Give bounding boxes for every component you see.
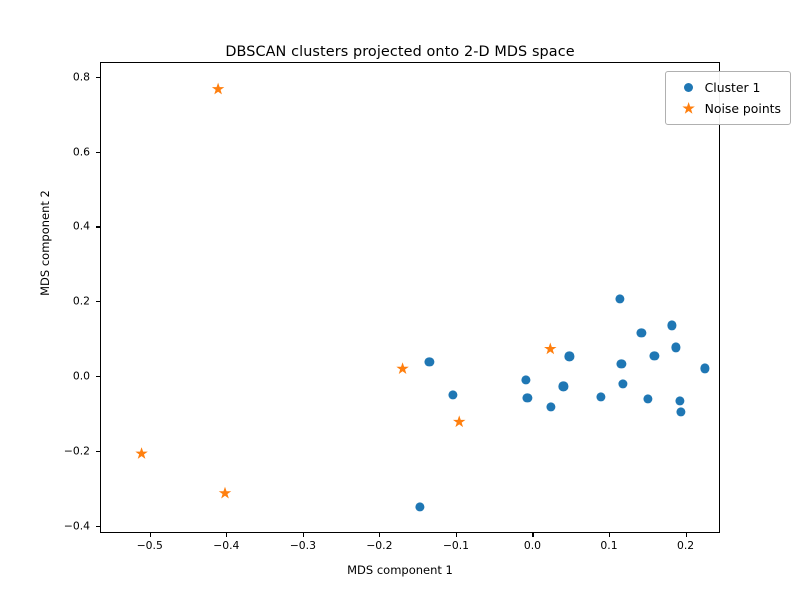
noise-point-marker [135,447,148,460]
cluster-point-marker [650,351,659,360]
cluster-point-marker [615,294,624,303]
x-tick-label: 0.1 [600,539,617,552]
chart-title: DBSCAN clusters projected onto 2-D MDS s… [0,44,800,60]
cluster-point-marker [425,357,434,366]
noise-point-marker [453,415,466,428]
x-tick-label: −0.1 [443,539,469,552]
x-tick-mark [532,533,533,537]
x-axis-label: MDS component 1 [0,563,800,577]
noise-point-marker [396,362,409,375]
cluster-point-marker [675,397,684,406]
x-tick-label: −0.3 [290,539,316,552]
x-tick-mark [686,533,687,537]
cluster-point-marker [677,407,686,416]
plot-area [100,62,720,533]
cluster-point-marker [671,343,680,352]
cluster-point-marker [596,393,605,402]
star-marker-icon [673,102,705,115]
legend-entry: Noise points [673,98,781,119]
x-tick-mark [609,533,610,537]
cluster-point-marker [523,393,532,402]
chart-legend: Cluster 1Noise points [665,71,791,125]
x-tick-mark [226,533,227,537]
cluster-point-marker [617,360,626,369]
x-tick-mark [303,533,304,537]
noise-point-marker [219,487,232,500]
x-tick-label: −0.4 [213,539,239,552]
legend-entry: Cluster 1 [673,77,781,98]
y-axis-label: MDS component 2 [38,43,52,443]
x-tick-mark [150,533,151,537]
legend-label: Cluster 1 [705,80,761,95]
cluster-point-marker [559,382,568,391]
circle-marker-icon [673,83,705,93]
cluster-point-marker [521,375,530,384]
cluster-point-marker [700,364,709,373]
cluster-point-marker [416,502,425,511]
noise-point-marker [544,342,557,355]
legend-label: Noise points [705,101,781,116]
x-tick-label: 0.0 [524,539,541,552]
cluster-point-marker [449,390,458,399]
noise-point-marker [212,83,225,96]
cluster-point-marker [618,380,627,389]
x-tick-label: −0.5 [137,539,163,552]
matplotlib-figure: DBSCAN clusters projected onto 2-D MDS s… [0,0,800,600]
cluster-point-marker [644,394,653,403]
cluster-point-marker [565,352,574,361]
cluster-point-marker [637,328,646,337]
cluster-point-marker [667,321,676,330]
x-tick-label: 0.2 [677,539,694,552]
data-points-layer [101,63,719,532]
cluster-point-marker [546,402,555,411]
x-tick-label: −0.2 [366,539,392,552]
x-tick-mark [379,533,380,537]
x-tick-mark [456,533,457,537]
